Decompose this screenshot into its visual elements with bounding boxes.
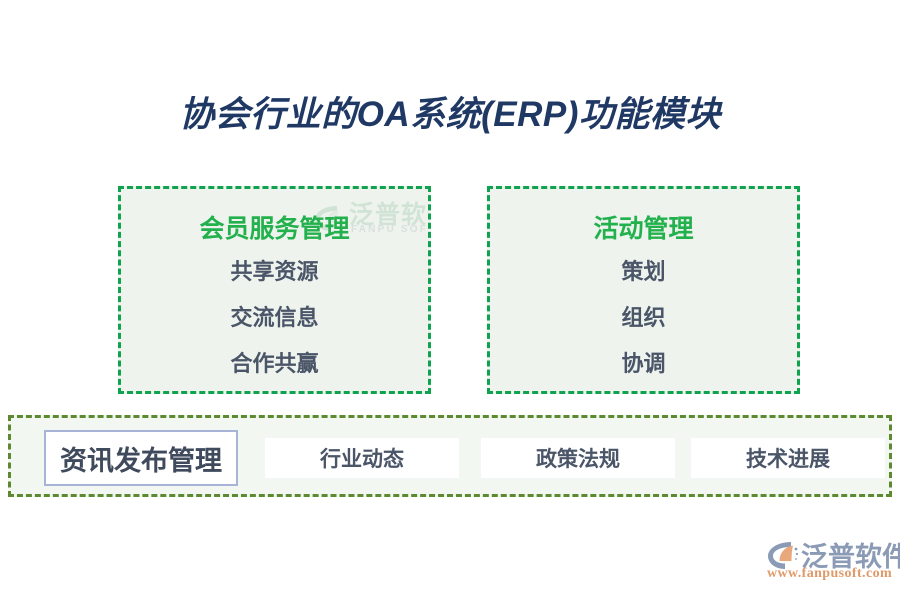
module-item[interactable]: 交流信息: [121, 295, 428, 341]
brand-logo[interactable]: 泛普软件 www.fanpusoft.com: [766, 538, 892, 584]
module-item-list: 策划 组织 协调: [490, 249, 797, 387]
module-item[interactable]: 组织: [490, 295, 797, 341]
bottom-cell-technology-progress[interactable]: 技术进展: [690, 437, 886, 479]
module-item[interactable]: 策划: [490, 249, 797, 295]
module-box-member-service-management[interactable]: 会员服务管理 共享资源 交流信息 合作共赢 泛普软件 FANPU SOFTWAR…: [118, 186, 431, 394]
module-item[interactable]: 协调: [490, 341, 797, 387]
bottom-cell-industry-trends[interactable]: 行业动态: [264, 437, 460, 479]
module-heading: 会员服务管理: [121, 209, 428, 245]
bottom-cell-information-publishing-management[interactable]: 资讯发布管理: [44, 430, 238, 486]
bottom-cell-policies-regulations[interactable]: 政策法规: [480, 437, 676, 479]
module-box-activity-management[interactable]: 活动管理 策划 组织 协调: [487, 186, 800, 394]
slide-canvas: 协会行业的OA系统(ERP)功能模块 会员服务管理 共享资源 交流信息 合作共赢…: [0, 0, 900, 600]
page-title: 协会行业的OA系统(ERP)功能模块: [0, 86, 900, 137]
module-item[interactable]: 合作共赢: [121, 341, 428, 387]
module-item-list: 共享资源 交流信息 合作共赢: [121, 249, 428, 387]
module-heading: 活动管理: [490, 209, 797, 245]
module-item[interactable]: 共享资源: [121, 249, 428, 295]
bottom-module-bar: 资讯发布管理 行业动态 政策法规 技术进展: [8, 415, 892, 497]
brand-logo-url: www.fanpusoft.com: [767, 566, 892, 582]
